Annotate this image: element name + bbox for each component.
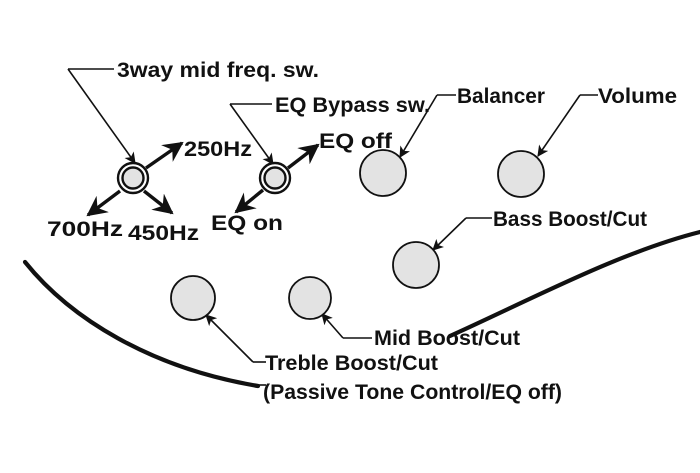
label-bass-boost-cut: Bass Boost/Cut	[493, 208, 647, 231]
treble-boost-cut-knob[interactable]	[171, 276, 215, 320]
label-volume: Volume	[598, 85, 677, 108]
label-250hz: 250Hz	[184, 138, 252, 161]
label-three-way-mid-freq-sw: 3way mid freq. sw.	[117, 59, 319, 82]
label-eq-on: EQ on	[211, 212, 283, 235]
label-mid-boost-cut: Mid Boost/Cut	[374, 327, 520, 350]
eq-bypass-switch[interactable]	[260, 163, 290, 193]
label-700hz: 700Hz	[47, 218, 123, 241]
volume-knob[interactable]	[498, 151, 544, 197]
eq-bypass-switch-inner-cap	[265, 168, 286, 189]
arrow-450hz	[144, 191, 172, 213]
arrow-700hz	[88, 191, 120, 215]
arrow-eq-off	[288, 145, 318, 168]
leader-treble-arrow	[206, 315, 253, 362]
label-treble-boost-cut: Treble Boost/Cut	[265, 352, 438, 375]
leader-three-way-sw-arrow	[68, 69, 135, 163]
leader-mid-arrow	[322, 314, 343, 338]
three-way-mid-freq-switch[interactable]	[118, 163, 148, 193]
label-balancer: Balancer	[457, 85, 545, 108]
label-treble-passive-note: (Passive Tone Control/EQ off)	[263, 381, 562, 404]
bass-boost-cut-knob[interactable]	[393, 242, 439, 288]
label-eq-off: EQ off	[319, 130, 393, 153]
mid-boost-cut-knob[interactable]	[289, 277, 331, 319]
label-eq-bypass-sw: EQ Bypass sw.	[275, 94, 430, 117]
label-450hz: 450Hz	[128, 222, 199, 245]
body-outline-right-curve	[450, 232, 700, 336]
body-outline-left-curve	[25, 262, 258, 386]
balancer-knob[interactable]	[360, 150, 406, 196]
leader-bass-arrow	[433, 218, 466, 250]
bass-control-diagram: 3way mid freq. sw. EQ Bypass sw. Balance…	[0, 0, 700, 473]
three-way-switch-inner-cap	[123, 168, 144, 189]
arrow-250hz	[146, 143, 182, 168]
diagram-canvas: 3way mid freq. sw. EQ Bypass sw. Balance…	[0, 0, 700, 473]
arrow-eq-on	[236, 190, 263, 212]
